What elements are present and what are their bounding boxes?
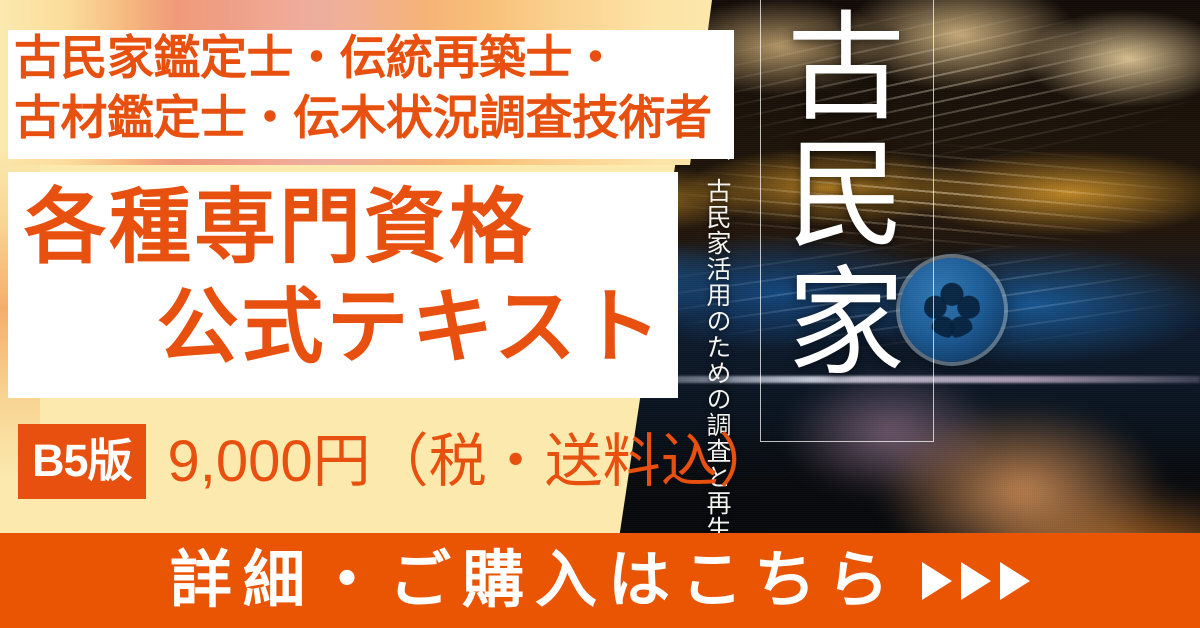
promo-banner: 伝統構法、古民家活用のための調査と再生の 古 民 家 古民家鑑定士・伝統再築士・…	[0, 0, 1200, 628]
triangle-right-icon	[1000, 562, 1030, 600]
price-row: B5版 9,000円（税・送料込）	[18, 424, 777, 499]
triangle-right-icon	[922, 562, 952, 600]
cta-arrows	[922, 562, 1030, 600]
format-badge: B5版	[18, 424, 146, 499]
book-title-char-1: 古	[786, 6, 906, 133]
main-title: 各種専門資格 公式テキスト	[10, 178, 682, 378]
book-cover-title: 古 民 家	[786, 6, 906, 388]
main-title-line-1: 各種専門資格	[10, 178, 682, 278]
headline: 古民家鑑定士・伝統再築士・ 古材鑑定士・伝木状況調査技術者	[14, 28, 754, 148]
headline-line-2: 古材鑑定士・伝木状況調査技術者	[14, 88, 754, 148]
headline-line-1: 古民家鑑定士・伝統再築士・	[14, 28, 754, 88]
book-title-char-2: 民	[786, 133, 906, 260]
book-title-char-3: 家	[786, 261, 906, 388]
triangle-right-icon	[961, 562, 991, 600]
main-title-line-2: 公式テキスト	[10, 278, 682, 378]
cta-label: 詳細・ご購入はこちら	[170, 550, 900, 612]
cta-bar[interactable]: 詳細・ご購入はこちら	[0, 533, 1200, 628]
price-text: 9,000円（税・送料込）	[168, 433, 777, 491]
